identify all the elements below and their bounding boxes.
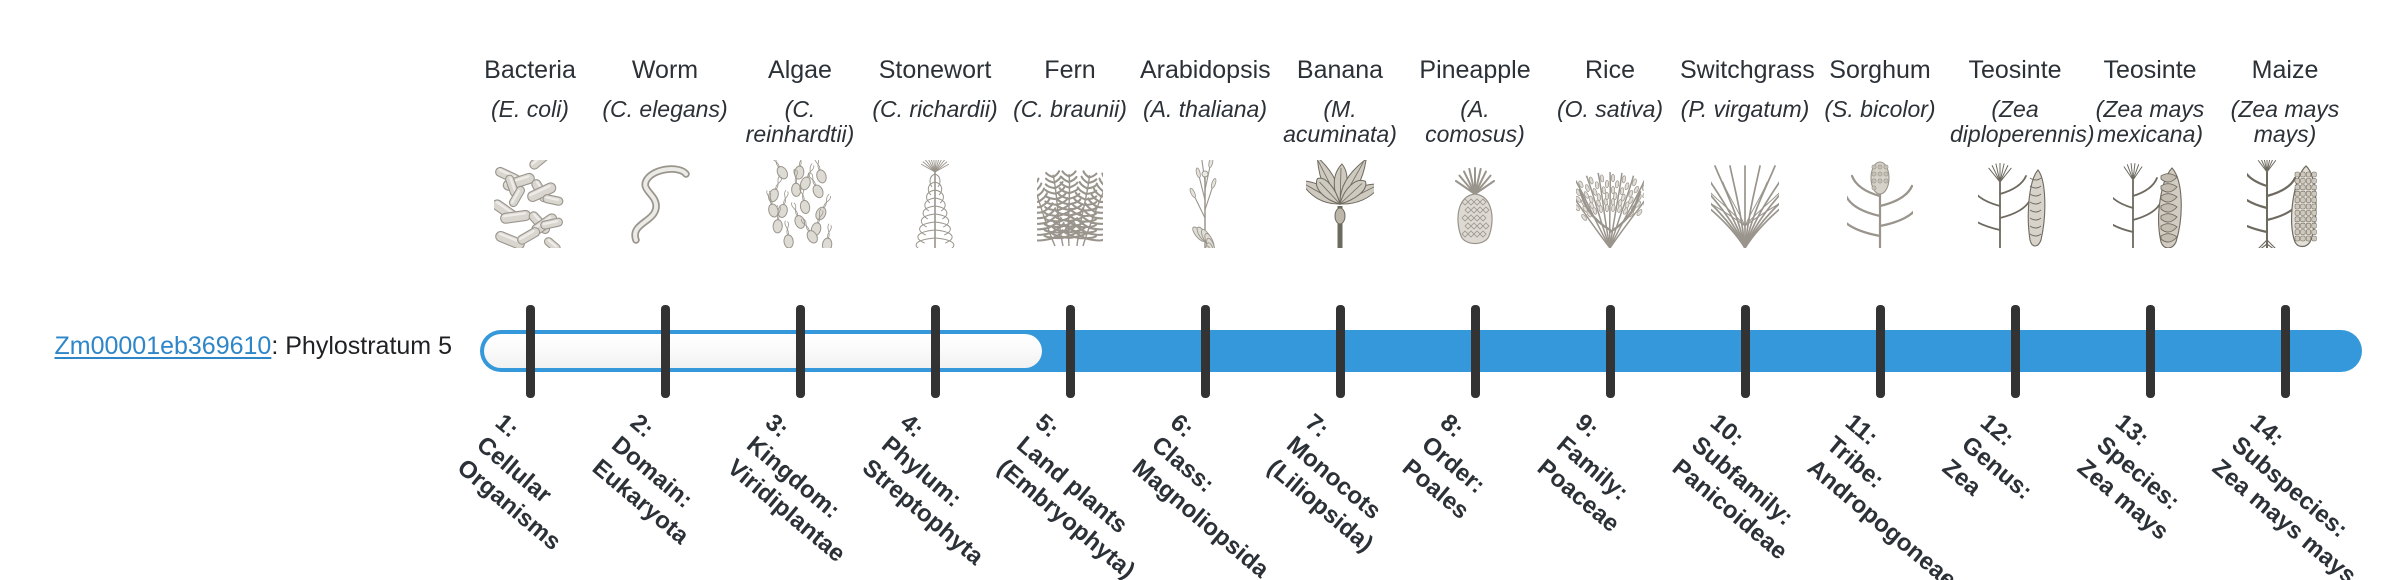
tick-mark-9 — [1606, 305, 1615, 398]
tick-mark-2 — [661, 305, 670, 398]
gene-label-separator: : — [271, 332, 285, 360]
organism-illustration-maize — [2220, 156, 2350, 248]
species-header-bacteria: Bacteria(E. coli) — [465, 56, 595, 122]
species-header-teosinte-diplo: Teosinte(Zea diploperennis) — [1950, 56, 2080, 148]
species-common-name: Teosinte — [2085, 56, 2215, 86]
species-latin-name: (A. thaliana) — [1140, 97, 1270, 123]
gene-phylostratum-label: Zm00001eb369610: Phylostratum 5 — [0, 334, 452, 359]
species-common-name: Rice — [1545, 56, 1675, 86]
organism-illustration-worm — [600, 156, 730, 248]
tick-mark-10 — [1741, 305, 1750, 398]
species-header-worm: Worm(C. elegans) — [600, 56, 730, 122]
species-common-name: Worm — [600, 56, 730, 86]
species-latin-name: (M. acuminata) — [1275, 97, 1405, 149]
species-latin-name: (C. richardii) — [870, 97, 1000, 123]
phylostratum-bar-unfilled — [484, 334, 1042, 368]
species-header-maize: Maize(Zea mays mays) — [2220, 56, 2350, 148]
species-latin-name: (P. virgatum) — [1680, 97, 1810, 123]
tick-mark-6 — [1201, 305, 1210, 398]
species-common-name: Algae — [735, 56, 865, 86]
organism-illustration-teosinte-mex — [2085, 156, 2215, 248]
organism-illustration-rice — [1545, 156, 1675, 248]
species-latin-name: (S. bicolor) — [1815, 97, 1945, 123]
taxonomy-rank-14: 14:Subspecies:Zea mays mays — [2207, 408, 2400, 580]
tick-mark-1 — [526, 305, 535, 398]
organism-illustration-arabidopsis — [1140, 156, 1270, 248]
phylostratum-bar[interactable] — [480, 330, 2362, 372]
species-header-pineapple: Pineapple(A. comosus) — [1410, 56, 1540, 148]
tick-mark-12 — [2011, 305, 2020, 398]
taxonomy-rank-13: 13:Species:Zea mays — [2072, 408, 2213, 546]
tick-mark-7 — [1336, 305, 1345, 398]
organism-illustration-fern — [1005, 156, 1135, 248]
tick-mark-4 — [931, 305, 940, 398]
tick-mark-5 — [1066, 305, 1075, 398]
tick-mark-3 — [796, 305, 805, 398]
species-latin-name: (C. elegans) — [600, 97, 730, 123]
organism-illustration-sorghum — [1815, 156, 1945, 248]
species-header-fern: Fern(C. braunii) — [1005, 56, 1135, 122]
species-latin-name: (E. coli) — [465, 97, 595, 123]
tick-mark-11 — [1876, 305, 1885, 398]
tick-mark-13 — [2146, 305, 2155, 398]
species-common-name: Teosinte — [1950, 56, 2080, 86]
species-latin-name: (C. braunii) — [1005, 97, 1135, 123]
species-header-arabidopsis: Arabidopsis(A. thaliana) — [1140, 56, 1270, 122]
species-header-algae: Algae(C. reinhardtii) — [735, 56, 865, 148]
species-common-name: Stonewort — [870, 56, 1000, 86]
organism-illustration-pineapple — [1410, 156, 1540, 248]
taxonomy-rank-3: 3:Kingdom:Viridiplantae — [722, 408, 889, 568]
species-common-name: Maize — [2220, 56, 2350, 86]
taxonomy-rank-1: 1:CellularOrganisms — [452, 408, 605, 556]
species-header-sorghum: Sorghum(S. bicolor) — [1815, 56, 1945, 122]
taxonomy-rank-2: 2:Domain:Eukaryota — [587, 408, 733, 550]
organism-illustration-banana — [1275, 156, 1405, 248]
species-latin-name: (O. sativa) — [1545, 97, 1675, 123]
organism-illustration-teosinte-diplo — [1950, 156, 2080, 248]
species-latin-name: (Zea diploperennis) — [1950, 97, 2080, 149]
taxonomy-rank-9: 9:Family:Poaceae — [1532, 408, 1664, 538]
species-header-banana: Banana(M. acuminata) — [1275, 56, 1405, 148]
species-header-rice: Rice(O. sativa) — [1545, 56, 1675, 122]
taxonomy-rank-4: 4:Phylum:Streptophyta — [857, 408, 1028, 571]
taxonomy-rank-10: 10:Subfamily:Panicoideae — [1667, 408, 1832, 566]
species-common-name: Fern — [1005, 56, 1135, 86]
species-common-name: Bacteria — [465, 56, 595, 86]
organism-illustration-bacteria — [465, 156, 595, 248]
species-common-name: Banana — [1275, 56, 1405, 86]
species-latin-name: (C. reinhardtii) — [735, 97, 865, 149]
organism-illustration-algae — [735, 156, 865, 248]
tick-mark-14 — [2281, 305, 2290, 398]
species-header-stonewort: Stonewort(C. richardii) — [870, 56, 1000, 122]
species-common-name: Pineapple — [1410, 56, 1540, 86]
species-common-name: Switchgrass — [1680, 56, 1810, 86]
taxonomy-rank-8: 8:Order:Poales — [1397, 408, 1513, 525]
tick-mark-8 — [1471, 305, 1480, 398]
species-latin-name: (Zea mays mexicana) — [2085, 97, 2215, 149]
species-latin-name: (A. comosus) — [1410, 97, 1540, 149]
gene-id-link[interactable]: Zm00001eb369610 — [54, 332, 271, 360]
phylostratum-value-text: Phylostratum 5 — [285, 332, 452, 360]
species-latin-name: (Zea mays mays) — [2220, 97, 2350, 149]
species-header-switchgrass: Switchgrass(P. virgatum) — [1680, 56, 1810, 122]
species-common-name: Sorghum — [1815, 56, 1945, 86]
organism-illustration-switchgrass — [1680, 156, 1810, 248]
organism-illustration-stonewort — [870, 156, 1000, 248]
species-header-teosinte-mex: Teosinte(Zea mays mexicana) — [2085, 56, 2215, 148]
species-common-name: Arabidopsis — [1140, 56, 1270, 86]
phylostratum-figure: Zm00001eb369610: Phylostratum 5 Bacteria… — [0, 0, 2400, 580]
